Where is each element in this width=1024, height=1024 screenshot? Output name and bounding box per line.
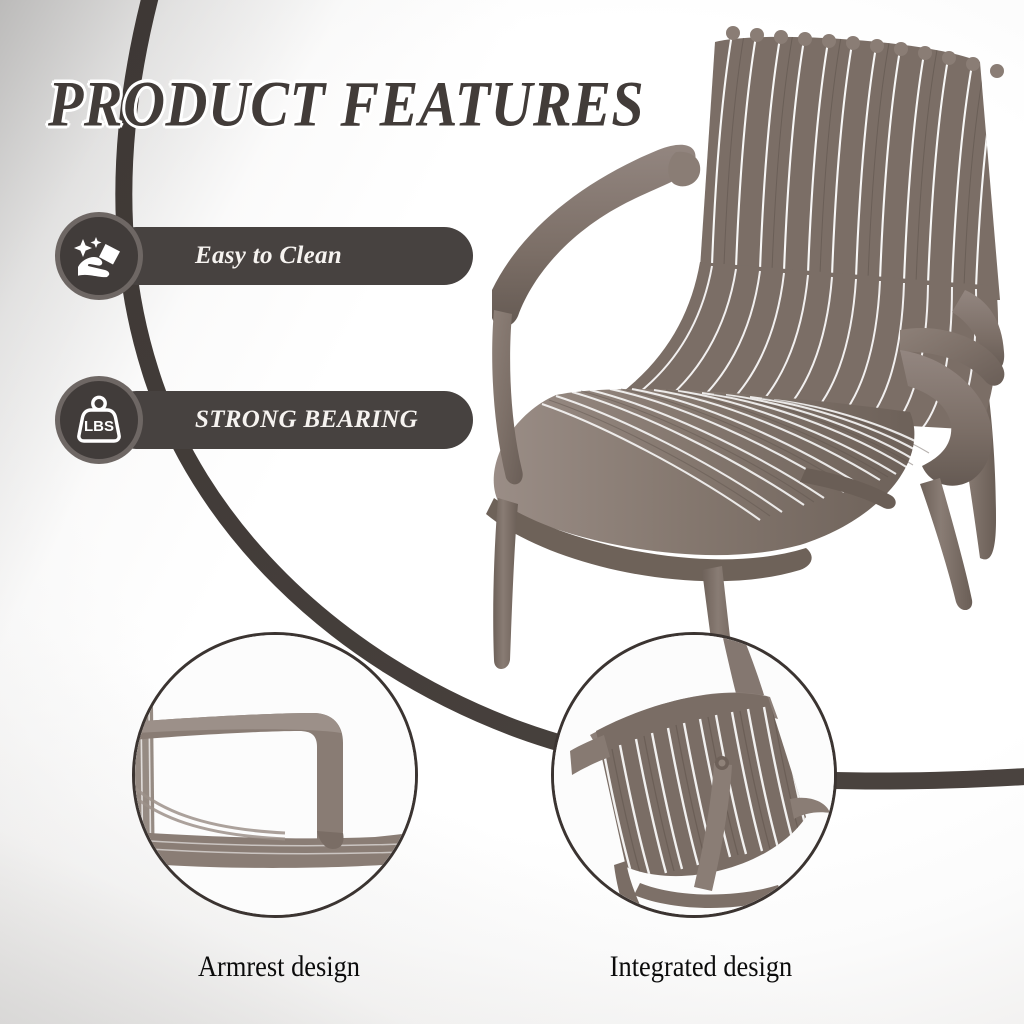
integrated-seat-detail-image: [554, 635, 834, 915]
page-title: PRODUCT FEATURES: [48, 66, 644, 141]
weight-lbs-icon: LBS: [55, 376, 143, 464]
inset-caption-armrest: Armrest design: [153, 950, 405, 984]
chair-front-left-leg: [493, 498, 518, 669]
feature-label: STRONG BEARING: [195, 406, 418, 434]
chair-seat-slats: [494, 389, 932, 555]
detail-inset-integrated[interactable]: [551, 632, 837, 918]
feature-pill[interactable]: Easy to Clean: [107, 227, 473, 285]
product-features-poster: PRODUCT FEATURES Easy to Clean STRONG BE…: [0, 0, 1024, 1024]
detail-inset-armrest[interactable]: [132, 632, 418, 918]
chair-back-right-leg: [920, 478, 972, 610]
product-chair-image: [0, 0, 1024, 1024]
inset-caption-integrated: Integrated design: [575, 950, 827, 984]
hand-wiping-sponge-sparkle-icon: [55, 212, 143, 300]
armrest-detail-image: [135, 635, 415, 915]
feature-label: Easy to Clean: [195, 242, 342, 270]
weight-icon-text: LBS: [84, 418, 114, 435]
feature-pill[interactable]: STRONG BEARING: [107, 391, 473, 449]
